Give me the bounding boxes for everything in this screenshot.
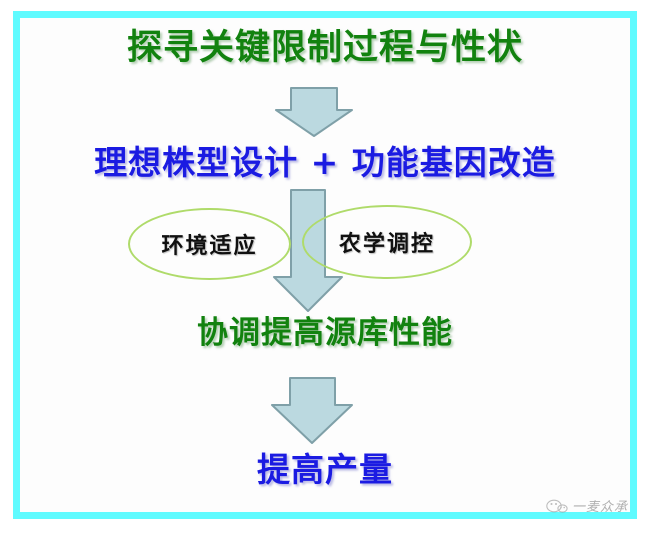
ellipse-agronomic-regulation[interactable]: 农学调控 [302,205,472,279]
slide-canvas: 环境适应 农学调控 探寻关键限制过程与性状 理想株型设计 + 功能基因改造 协调… [0,0,650,537]
watermark-label: 一麦众承 [572,496,628,515]
flow-node-yield: 提高产量 [0,453,650,486]
watermark: 一麦众承 [546,496,628,515]
ellipse-environment-adaptation[interactable]: 环境适应 [128,208,291,280]
ellipse-environment-adaptation-label: 环境适应 [161,228,257,260]
arrow-title-to-design [276,88,352,136]
flow-node-title: 探寻关键限制过程与性状 [0,31,650,66]
arrow-performance-to-yield [272,378,352,443]
ellipse-agronomic-regulation-label: 农学调控 [339,226,435,258]
wechat-smiley-icon [546,498,568,514]
flow-node-performance: 协调提高源库性能 [0,318,650,349]
flow-node-design: 理想株型设计 + 功能基因改造 [0,146,650,179]
